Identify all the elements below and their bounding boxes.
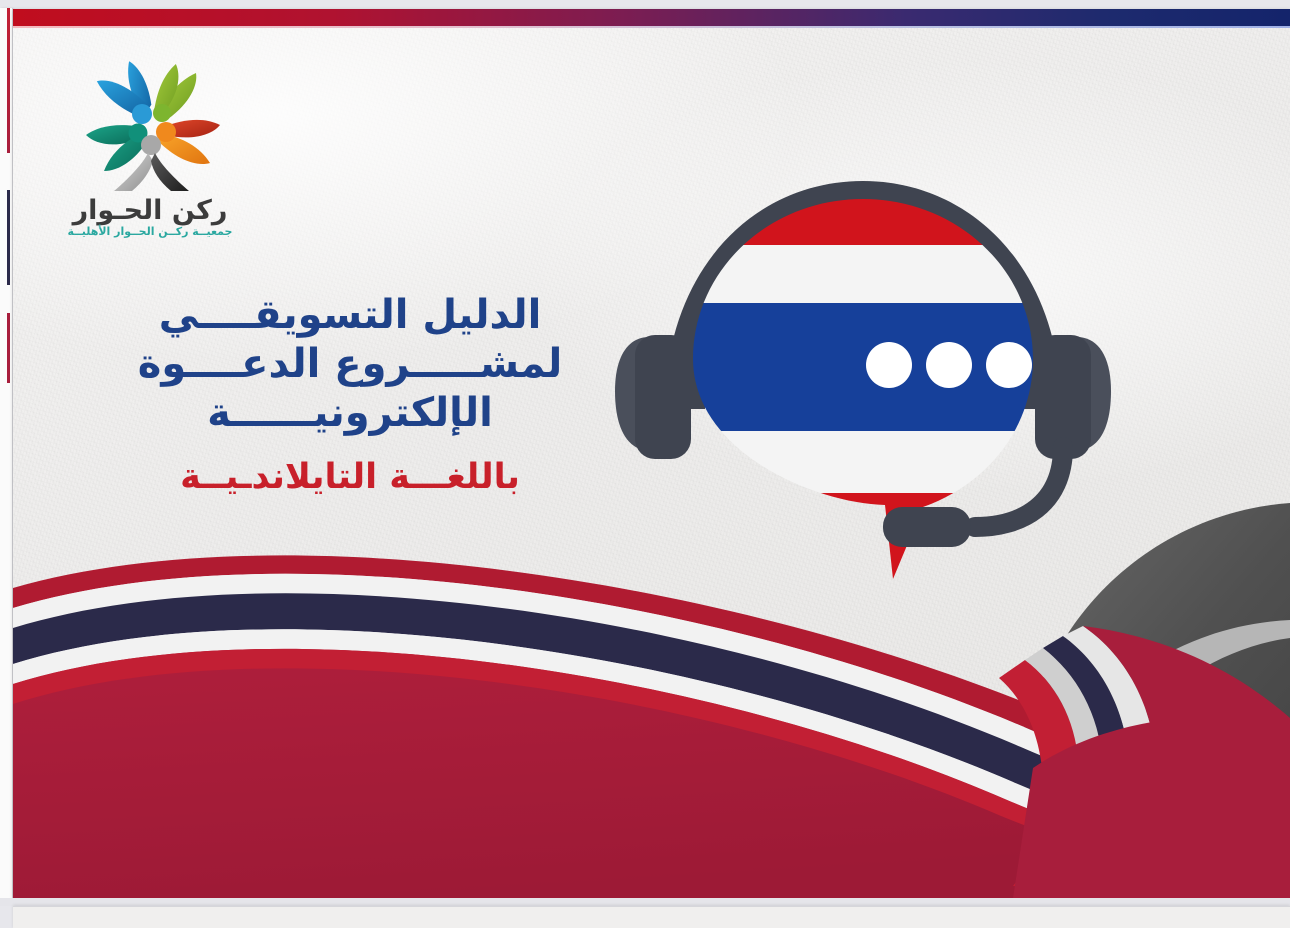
logo-name-sub: جمعيــة ركــن الحــوار الأهليــة [68,224,233,238]
typing-dots [866,342,1032,388]
next-page-top-edge[interactable] [13,906,1290,928]
typing-dot-3 [986,342,1032,388]
headline-line-2: لمشـــــروع الدعــــوة [130,341,570,388]
top-gradient-bar [13,9,1290,26]
sliver-navy-band [7,190,10,285]
document-viewer[interactable]: ركن الحـوار جمعيــة ركــن الحــوار الأهل… [0,0,1290,928]
document-page[interactable]: ركن الحـوار جمعيــة ركــن الحــوار الأهل… [13,9,1290,898]
logo-name-main: ركن الحـوار [71,195,228,226]
flag-stripe-white-top [683,245,1043,303]
organization-logo: ركن الحـوار جمعيــة ركــن الحــوار الأهل… [58,39,243,239]
sliver-red-band-middle [7,313,10,383]
previous-page-sliver[interactable] [0,8,13,898]
headline-line-1: الدليل التسويقــــي [130,292,570,339]
typing-dot-2 [926,342,972,388]
page-gap [0,898,1290,906]
thai-flag-ribbon-wave [13,468,1290,898]
typing-dot-1 [866,342,912,388]
cover-headline: الدليل التسويقــــي لمشـــــروع الدعــــ… [130,292,570,498]
headline-line-3: الإلكترونيــــــة [130,390,570,437]
top-gradient-hairline [13,26,1290,28]
sliver-red-band-top [7,8,10,153]
